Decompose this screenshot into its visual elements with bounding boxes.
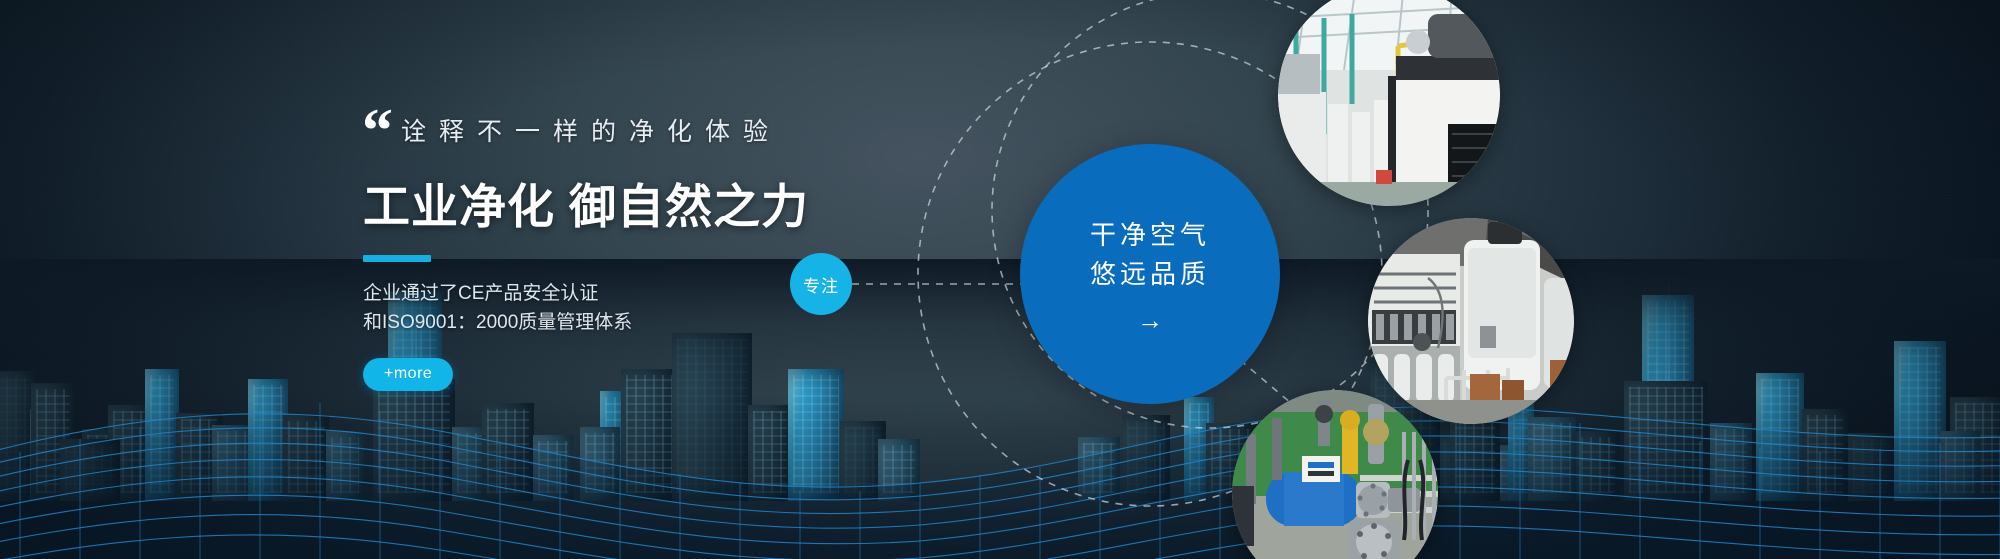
hero-description-line-2: 和ISO9001：2000质量管理体系 xyxy=(363,308,809,337)
hub-line-1: 干净空气 xyxy=(1090,216,1210,255)
hub-line-2: 悠远品质 xyxy=(1090,255,1210,294)
diagram-cluster: 专注 干净空气 悠远品质 → xyxy=(0,0,2000,559)
hero-copy: “ 诠释不一样的净化体验 工业净化 御自然之力 企业通过了CE产品安全认证 和I… xyxy=(363,112,809,391)
photo-textile-machinery-hall[interactable] xyxy=(1368,218,1574,424)
dashed-rings xyxy=(0,0,2000,559)
hero-banner: 专注 干净空气 悠远品质 → xyxy=(0,0,2000,559)
quote-mark-icon: “ xyxy=(362,100,391,162)
hero-subtitle: 诠释不一样的净化体验 xyxy=(401,112,809,148)
more-button[interactable]: +more xyxy=(363,358,453,391)
accent-underline xyxy=(363,255,431,262)
hero-description-line-1: 企业通过了CE产品安全认证 xyxy=(363,279,809,308)
hub-circle[interactable]: 干净空气 悠远品质 → xyxy=(1020,144,1280,404)
arrow-right-icon: → xyxy=(1137,307,1163,333)
hero-headline: 工业净化 御自然之力 xyxy=(363,168,809,237)
